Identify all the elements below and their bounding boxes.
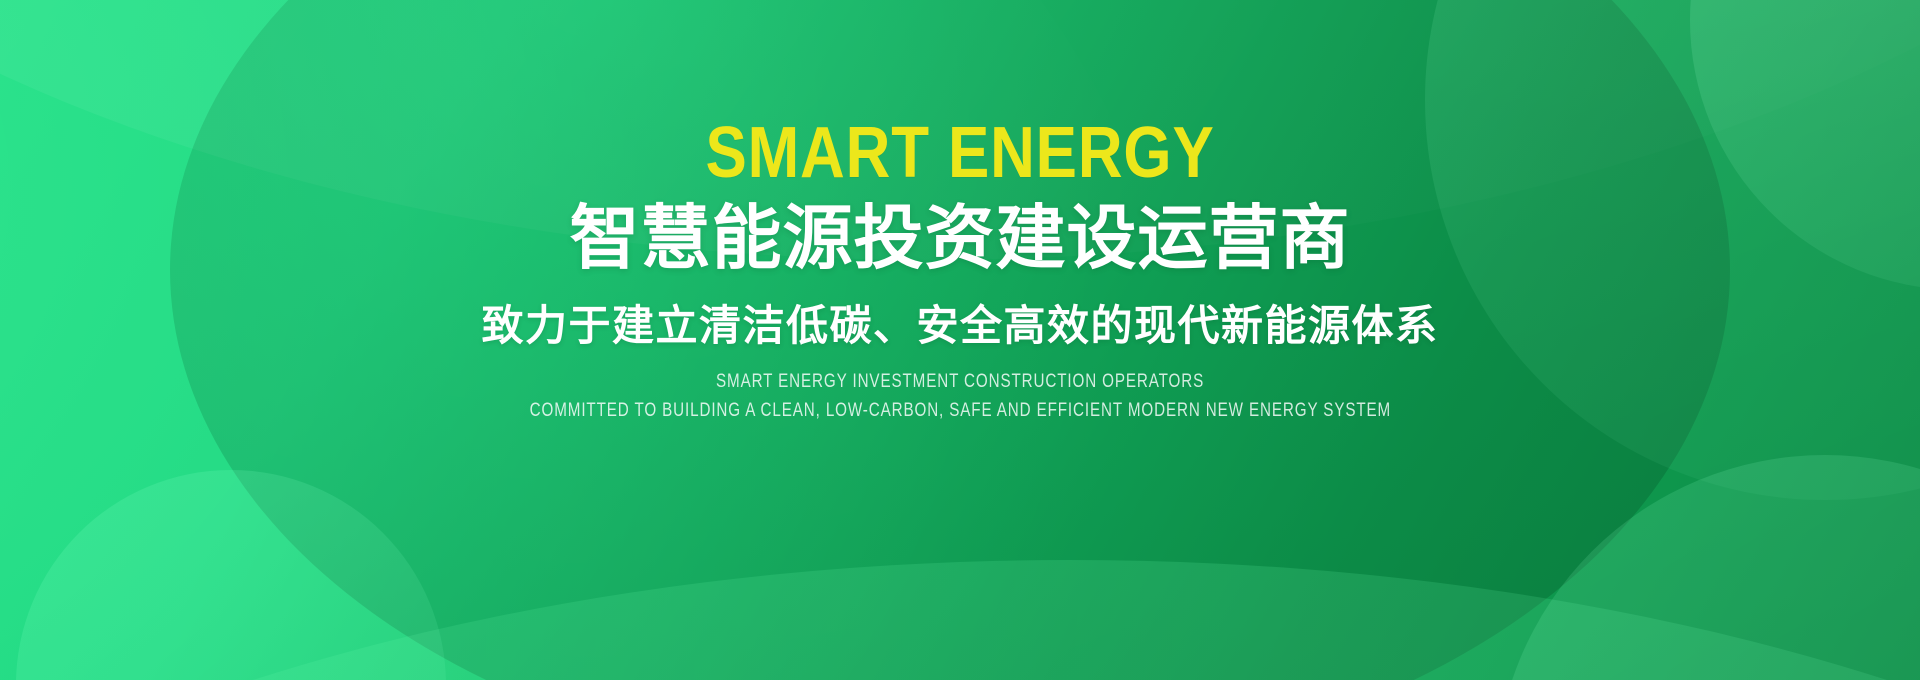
banner-subtitle-chinese: 致力于建立清洁低碳、安全高效的现代新能源体系	[481, 303, 1438, 349]
hero-banner: SMART ENERGY 智慧能源投资建设运营商 致力于建立清洁低碳、安全高效的…	[0, 0, 1920, 680]
banner-content: SMART ENERGY 智慧能源投资建设运营商 致力于建立清洁低碳、安全高效的…	[0, 0, 1920, 680]
banner-title-english: SMART ENERGY	[705, 117, 1214, 189]
banner-title-chinese: 智慧能源投资建设运营商	[570, 201, 1351, 275]
banner-caption-english-line-2: COMMITTED TO BUILDING A CLEAN, LOW-CARBO…	[529, 398, 1390, 423]
banner-caption-english-line-1: SMART ENERGY INVESTMENT CONSTRUCTION OPE…	[716, 369, 1204, 394]
